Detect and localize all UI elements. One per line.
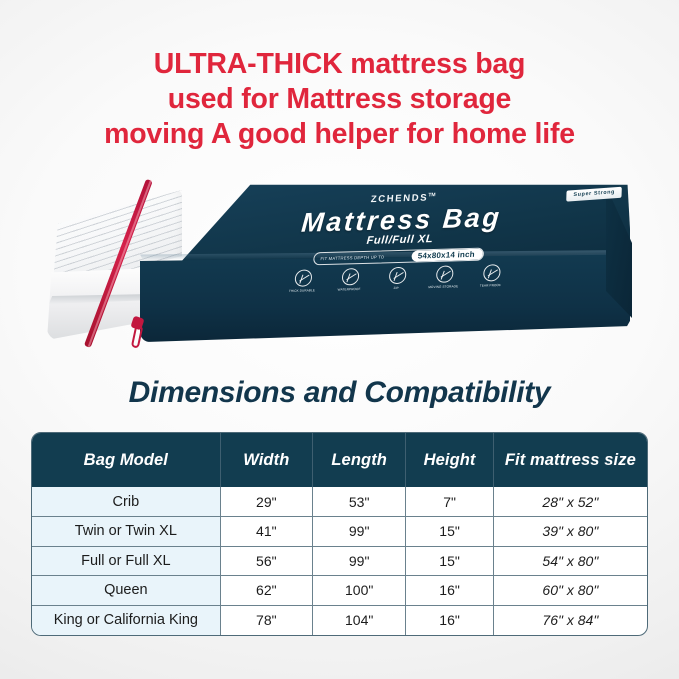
water-drop-icon xyxy=(341,268,359,285)
headline-line-2: used for Mattress storage xyxy=(0,82,679,117)
cell-model: Full or Full XL xyxy=(32,546,220,576)
bag-printed-label: ZCHENDSTM Mattress Bag Full/Full XL Supe… xyxy=(196,182,605,295)
cell-model: Twin or Twin XL xyxy=(32,517,220,547)
cell-fit: 54" x 80" xyxy=(493,546,647,576)
zipper-pull-icon xyxy=(131,325,143,348)
feature-item: WATERPROOF xyxy=(330,268,370,292)
product-image: ZCHENDSTM Mattress Bag Full/Full XL Supe… xyxy=(0,172,679,362)
feature-item: THICK DURABLE xyxy=(283,269,323,293)
feature-item: MOVING STORAGE xyxy=(424,265,464,289)
cell-length: 53" xyxy=(312,487,405,517)
cell-width: 62" xyxy=(220,576,312,606)
zipper-icon xyxy=(388,267,406,284)
table-row: Twin or Twin XL 41" 99" 15" 39" x 80" xyxy=(32,517,647,547)
cell-height: 16" xyxy=(406,605,493,635)
spec-size: 54x80x14 inch xyxy=(411,249,483,262)
section-title: Dimensions and Compatibility xyxy=(0,376,679,410)
shield-icon xyxy=(294,269,312,286)
cell-length: 99" xyxy=(312,517,405,547)
cell-model: King or California King xyxy=(32,605,220,635)
cell-fit: 28" x 52" xyxy=(493,487,647,517)
cell-fit: 60" x 80" xyxy=(493,576,647,606)
cell-height: 7" xyxy=(406,487,493,517)
feature-item: ZIP xyxy=(377,266,417,290)
cell-height: 15" xyxy=(406,546,493,576)
dimensions-table: Bag Model Width Length Height Fit mattre… xyxy=(31,432,648,636)
trademark-symbol: TM xyxy=(428,192,436,198)
headline-line-3: moving A good helper for home life xyxy=(0,117,679,152)
table-row: King or California King 78" 104" 16" 76"… xyxy=(32,605,647,635)
cell-model: Crib xyxy=(32,487,220,517)
cell-fit: 76" x 84" xyxy=(493,605,647,635)
brand-text: ZCHENDS xyxy=(370,192,428,205)
spec-bar: FIT MATTRESS DEPTH UP TO 54x80x14 inch xyxy=(313,248,484,266)
cell-length: 99" xyxy=(312,546,405,576)
cell-length: 100" xyxy=(312,576,405,606)
column-header-fit-mattress-size: Fit mattress size xyxy=(493,433,647,487)
table-header-row: Bag Model Width Length Height Fit mattre… xyxy=(32,433,647,487)
handle-icon xyxy=(435,265,453,282)
cell-width: 29" xyxy=(220,487,312,517)
cell-height: 15" xyxy=(406,517,493,547)
spec-note: FIT MATTRESS DEPTH UP TO xyxy=(314,254,412,262)
cell-length: 104" xyxy=(312,605,405,635)
cell-height: 16" xyxy=(406,576,493,606)
cell-width: 41" xyxy=(220,517,312,547)
brand-name: ZCHENDSTM xyxy=(370,192,435,205)
cell-width: 56" xyxy=(220,546,312,576)
table-row: Queen 62" 100" 16" 60" x 80" xyxy=(32,576,647,606)
column-header-length: Length xyxy=(312,433,405,487)
table-row: Crib 29" 53" 7" 28" x 52" xyxy=(32,487,647,517)
column-header-width: Width xyxy=(220,433,312,487)
column-header-height: Height xyxy=(406,433,493,487)
feature-item: TEAR PROOF xyxy=(471,264,511,288)
tear-resistant-icon xyxy=(482,264,500,281)
cell-width: 78" xyxy=(220,605,312,635)
cell-model: Queen xyxy=(32,576,220,606)
table-row: Full or Full XL 56" 99" 15" 54" x 80" xyxy=(32,546,647,576)
headline: ULTRA-THICK mattress bag used for Mattre… xyxy=(0,47,679,152)
column-header-bag-model: Bag Model xyxy=(32,433,220,487)
red-zipper xyxy=(128,184,198,346)
headline-line-1: ULTRA-THICK mattress bag xyxy=(0,47,679,82)
cell-fit: 39" x 80" xyxy=(493,517,647,547)
